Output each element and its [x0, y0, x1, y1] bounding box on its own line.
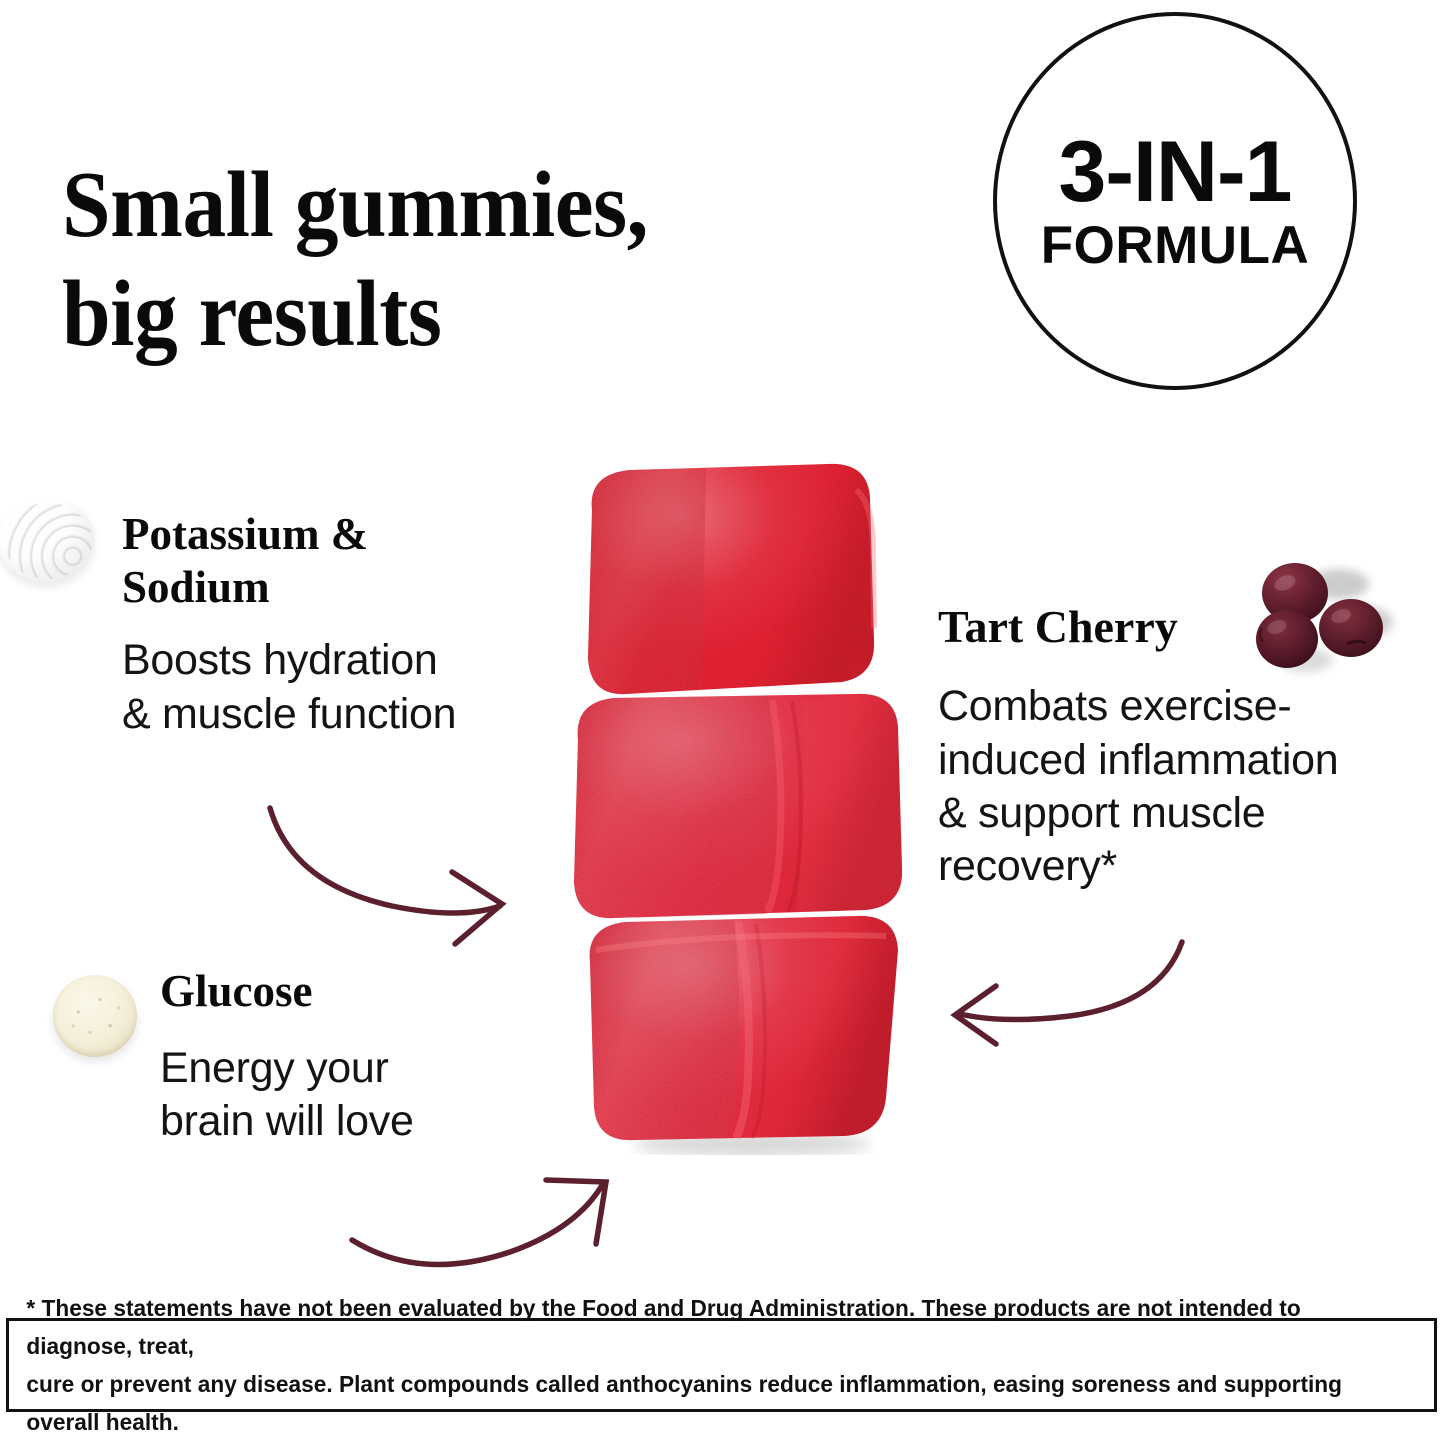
arrow-cherry-to-gummy — [955, 942, 1182, 1044]
gummy-bottom — [590, 916, 898, 1140]
infographic-canvas: Small gummies, big results 3-IN-1 FORMUL… — [0, 0, 1445, 1420]
glucose-tablet-icon — [53, 975, 137, 1057]
gummy-middle — [574, 694, 902, 918]
gummy-stack-svg — [556, 450, 916, 1155]
badge-main-label: 3-IN-1 — [1059, 130, 1292, 214]
feature-title: Glucose — [160, 965, 560, 1018]
gummy-top — [588, 464, 874, 694]
feature-body: Boosts hydration & muscle function — [122, 634, 592, 741]
three-in-one-badge: 3-IN-1 FORMULA — [993, 12, 1357, 390]
disclaimer-box: * These statements have not been evaluat… — [6, 1318, 1437, 1412]
arrow-glucose-to-gummy — [352, 1180, 606, 1265]
salt-granule-icon — [0, 498, 94, 582]
feature-glucose: Glucose Energy your brain will love — [160, 965, 560, 1149]
feature-body: Combats exercise- induced inflammation &… — [938, 680, 1445, 893]
feature-potassium-sodium: Potassium & Sodium Boosts hydration & mu… — [122, 508, 592, 741]
feature-title: Potassium & Sodium — [122, 508, 592, 614]
product-image-gummy-stack — [556, 450, 916, 1155]
badge-sub-label: FORMULA — [1041, 219, 1309, 272]
feature-title: Tart Cherry — [938, 600, 1445, 654]
feature-body: Energy your brain will love — [160, 1042, 560, 1149]
feature-tart-cherry: Tart Cherry Combats exercise- induced in… — [938, 600, 1445, 894]
page-title: Small gummies, big results — [62, 151, 899, 369]
disclaimer-text: * These statements have not been evaluat… — [9, 1289, 1384, 1441]
arrow-potassium-to-gummy — [270, 808, 502, 944]
